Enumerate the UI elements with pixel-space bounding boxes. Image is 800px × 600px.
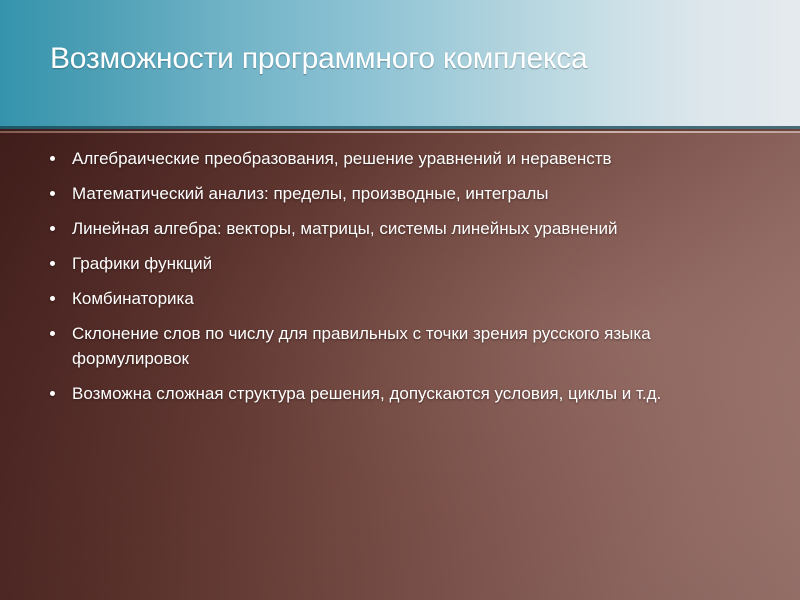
list-item-label: Комбинаторика (72, 286, 740, 311)
page-title: Возможности программного комплекса (50, 38, 750, 80)
list-item-label: Возможна сложная структура решения, допу… (72, 381, 740, 406)
bullet-dot-icon (50, 261, 55, 266)
feature-bullet-list: Алгебраические преобразования, решение у… (0, 133, 800, 416)
list-item-label: Графики функций (72, 251, 740, 276)
list-item-label: Линейная алгебра: векторы, матрицы, сист… (72, 216, 740, 241)
bullet-dot-icon (50, 331, 55, 336)
list-item: Склонение слов по числу для правильных с… (0, 321, 800, 371)
list-item: Комбинаторика (0, 286, 800, 311)
list-item-label: Склонение слов по числу для правильных с… (72, 321, 740, 371)
bullet-dot-icon (50, 391, 55, 396)
presentation-slide: Возможности программного комплекса Алгеб… (0, 0, 800, 600)
bullet-dot-icon (50, 226, 55, 231)
list-item: Возможна сложная структура решения, допу… (0, 381, 800, 406)
list-item: Алгебраические преобразования, решение у… (0, 146, 800, 171)
list-item: Линейная алгебра: векторы, матрицы, сист… (0, 216, 800, 241)
list-item-label: Алгебраические преобразования, решение у… (72, 146, 740, 171)
list-item: Графики функций (0, 251, 800, 276)
bullet-dot-icon (50, 156, 55, 161)
bullet-dot-icon (50, 191, 55, 196)
list-item-label: Математический анализ: пределы, производ… (72, 181, 740, 206)
bullet-dot-icon (50, 296, 55, 301)
list-item: Математический анализ: пределы, производ… (0, 181, 800, 206)
